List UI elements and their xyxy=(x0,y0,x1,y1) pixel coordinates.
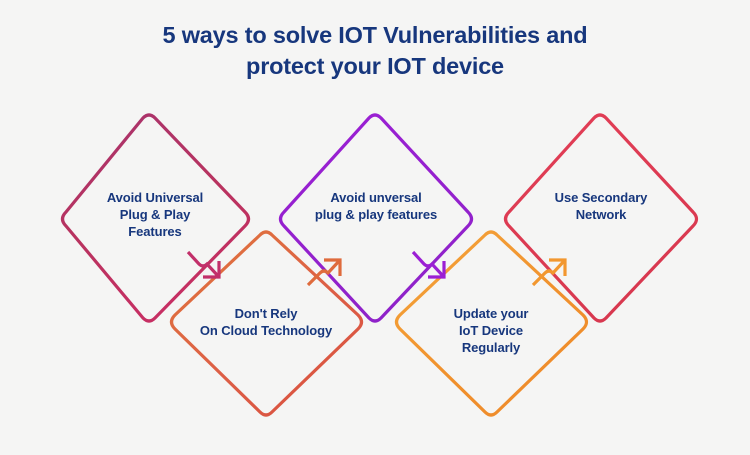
diagram-graphic xyxy=(0,0,750,455)
diagram-canvas: 5 ways to solve IOT Vulnerabilities and … xyxy=(0,0,750,455)
node-diamond-5[interactable] xyxy=(506,115,697,321)
node-diamond-3[interactable] xyxy=(281,115,472,321)
node-diamond-1[interactable] xyxy=(63,115,249,321)
